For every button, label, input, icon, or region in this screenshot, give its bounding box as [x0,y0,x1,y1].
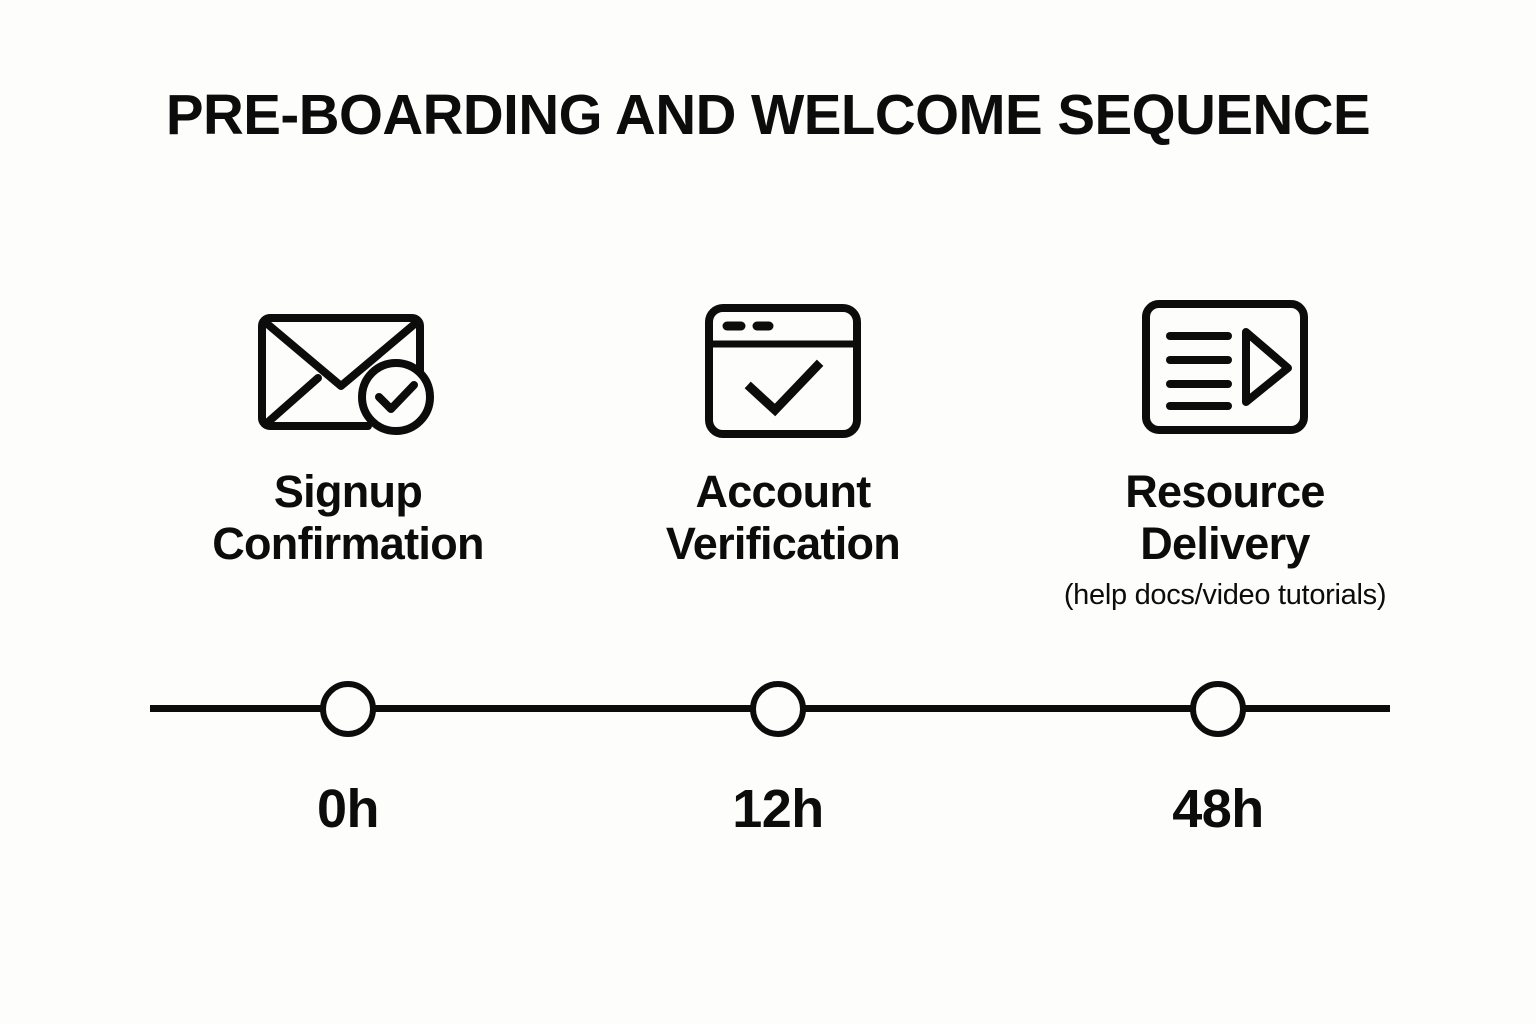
timeline-label-0h: 0h [218,778,478,840]
step-signup-confirmation: Signup Confirmation [128,292,568,570]
envelope-check-icon [128,292,568,442]
step-resource-delivery: Resource Delivery (help docs/video tutor… [1005,292,1445,613]
step-label-line1: Signup [274,466,422,517]
browser-window-check-icon [563,292,1003,442]
step-subtitle: (help docs/video tutorials) [1005,578,1445,613]
step-label-line2: Delivery [1005,518,1445,570]
infographic-canvas: PRE-BOARDING AND WELCOME SEQUENCE [0,0,1536,1024]
step-label: Account Verification [563,466,1003,570]
step-label-line1: Account [695,466,870,517]
timeline-label-12h: 12h [648,778,908,840]
step-label-line2: Confirmation [128,518,568,570]
timeline-label-48h: 48h [1088,778,1348,840]
step-label-line1: Resource [1125,466,1325,517]
timeline-node-12h[interactable] [750,681,806,737]
step-account-verification: Account Verification [563,292,1003,570]
document-play-icon [1005,292,1445,442]
timeline-node-48h[interactable] [1190,681,1246,737]
step-label: Signup Confirmation [128,466,568,570]
step-label: Resource Delivery [1005,466,1445,570]
timeline-node-0h[interactable] [320,681,376,737]
step-label-line2: Verification [563,518,1003,570]
steps-row: Signup Confirmation Account Verification [0,0,1536,1024]
